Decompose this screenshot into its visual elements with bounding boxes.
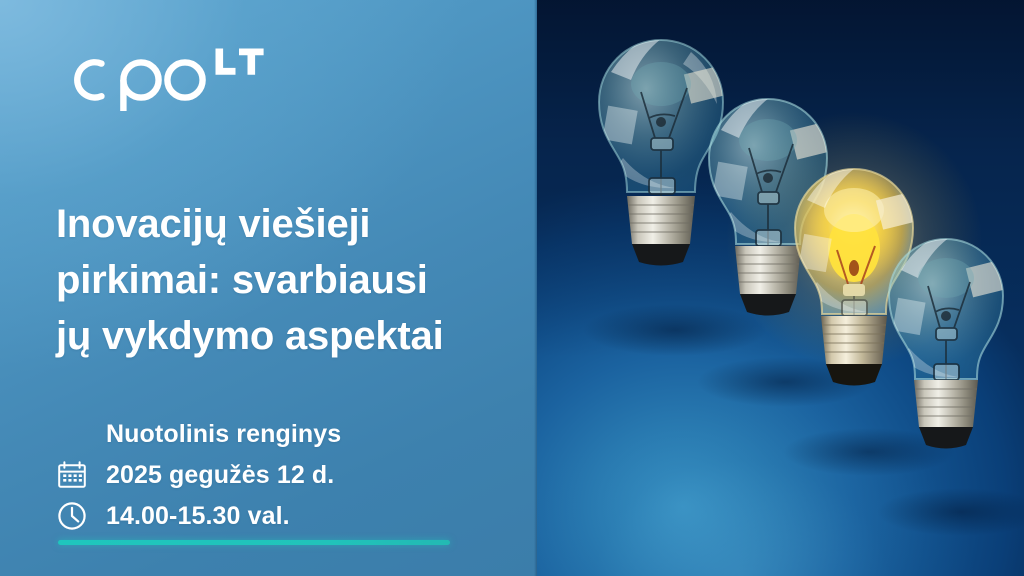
teal-accent-rule <box>58 540 450 545</box>
event-time-row: 14.00-15.30 val. <box>52 496 492 536</box>
title-line-2: pirkimai: svarbiausi <box>56 252 506 308</box>
event-format-row: Nuotolinis renginys <box>52 414 492 454</box>
lightbulb-1 <box>599 28 724 266</box>
left-content-panel: Inovacijų viešieji pirkimai: svarbiausi … <box>0 0 537 576</box>
calendar-icon <box>52 455 92 495</box>
event-date-label: 2025 gegužės 12 d. <box>106 461 334 490</box>
lightbulbs-photo <box>537 0 1024 576</box>
page-title: Inovacijų viešieji pirkimai: svarbiausi … <box>56 196 506 364</box>
event-time-label: 14.00-15.30 val. <box>106 502 290 531</box>
title-line-1: Inovacijų viešieji <box>56 196 506 252</box>
event-details: Nuotolinis renginys <box>52 414 492 537</box>
lightbulb-4 <box>889 229 1005 449</box>
event-promo-banner: Inovacijų viešieji pirkimai: svarbiausi … <box>0 0 1024 576</box>
clock-icon <box>52 496 92 536</box>
lightbulb-group <box>537 0 1024 576</box>
event-date-row: 2025 gegužės 12 d. <box>52 455 492 495</box>
event-format-label: Nuotolinis renginys <box>106 420 341 449</box>
cpo-lt-logo[interactable] <box>63 48 273 112</box>
title-line-3: jų vykdymo aspektai <box>56 308 506 364</box>
